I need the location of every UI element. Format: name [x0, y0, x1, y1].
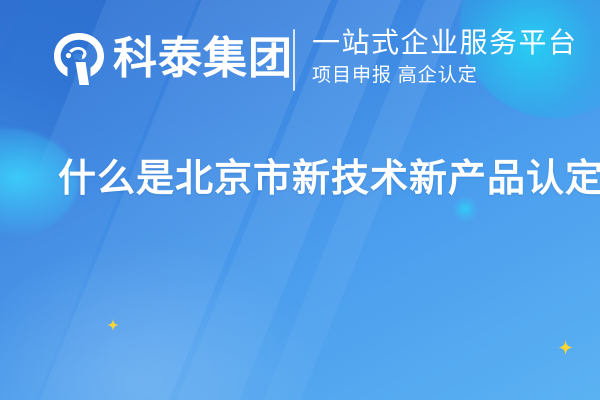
sparkle-left	[107, 318, 119, 336]
brand-name: 科泰集团	[113, 33, 293, 85]
bottom-light-wash	[0, 240, 320, 400]
promo-banner: 科泰集团 一站式企业服务平台 项目申报 高企认定 什么是北京市新技术新产品认定	[0, 0, 600, 400]
header-divider	[293, 29, 295, 91]
sparkle-right	[558, 340, 573, 360]
ketai-circle-logo-icon	[49, 29, 109, 89]
tagline-block: 一站式企业服务平台 项目申报 高企认定	[312, 26, 582, 89]
tagline-secondary: 项目申报 高企认定	[312, 63, 582, 89]
banner-headline: 什么是北京市新技术新产品认定	[58, 155, 600, 203]
tagline-primary: 一站式企业服务平台	[312, 26, 582, 60]
banner-header: 科泰集团 一站式企业服务平台 项目申报 高企认定	[0, 0, 600, 120]
